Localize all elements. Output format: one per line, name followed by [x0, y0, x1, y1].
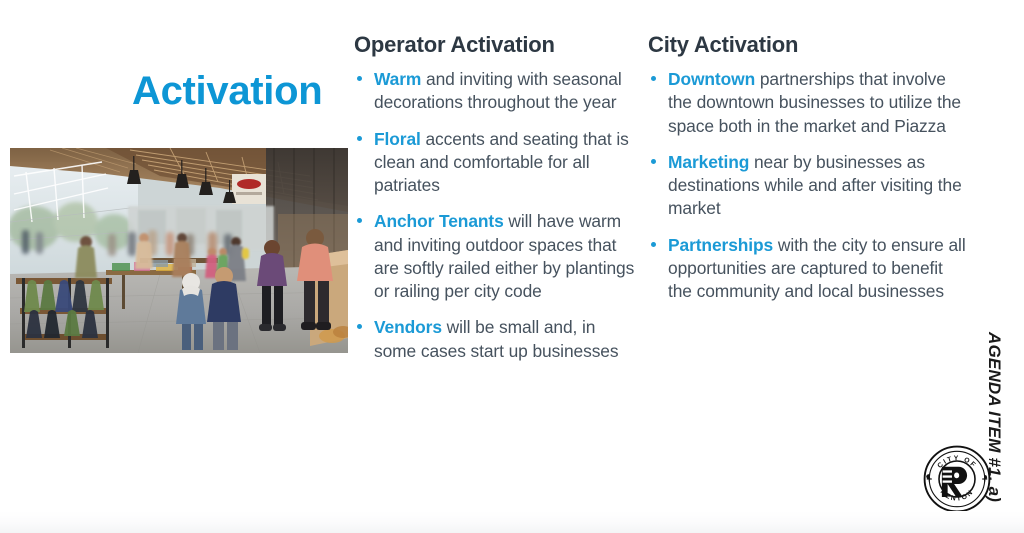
list-item: Warm and inviting with seasonal decorati…: [354, 68, 639, 114]
bullet-dot-icon: [357, 76, 362, 81]
bullet-keyword: Anchor Tenants: [374, 211, 504, 231]
bullet-keyword: Marketing: [668, 152, 749, 172]
bullet-keyword: Vendors: [374, 317, 442, 337]
list-item: Anchor Tenants will have warm and inviti…: [354, 210, 639, 303]
page-title: Activation: [132, 70, 322, 112]
bullet-dot-icon: [357, 218, 362, 223]
city-of-renton-seal-logo: CITY OF RENTON: [921, 443, 993, 515]
bullet-keyword: Floral: [374, 129, 421, 149]
list-item: Partnerships with the city to ensure all…: [648, 234, 968, 304]
bullet-dot-icon: [357, 324, 362, 329]
bullet-keyword: Partnerships: [668, 235, 773, 255]
bullet-list-city: Downtown partnerships that involve the d…: [648, 68, 968, 303]
footer-band: [0, 511, 1024, 533]
market-rendering-canvas: [10, 148, 348, 353]
column-heading-city: City Activation: [648, 33, 968, 57]
bullet-dot-icon: [651, 242, 656, 247]
market-rendering-image: [10, 148, 348, 353]
list-item: Downtown partnerships that involve the d…: [648, 68, 968, 138]
list-item: Marketing near by businesses as destinat…: [648, 151, 968, 221]
bullet-dot-icon: [651, 159, 656, 164]
bullet-keyword: Warm: [374, 69, 421, 89]
bullet-dot-icon: [651, 76, 656, 81]
column-operator-activation: Operator Activation Warm and inviting wi…: [354, 33, 639, 363]
column-city-activation: City Activation Downtown partnerships th…: [648, 33, 968, 303]
slide-canvas: Activation: [0, 0, 1024, 533]
seal-icon: CITY OF RENTON: [921, 443, 993, 515]
column-heading-operator: Operator Activation: [354, 33, 639, 57]
bullet-dot-icon: [357, 136, 362, 141]
bullet-keyword: Downtown: [668, 69, 755, 89]
bullet-list-operator: Warm and inviting with seasonal decorati…: [354, 68, 639, 363]
list-item: Floral accents and seating that is clean…: [354, 128, 639, 198]
list-item: Vendors will be small and, in some cases…: [354, 316, 639, 362]
